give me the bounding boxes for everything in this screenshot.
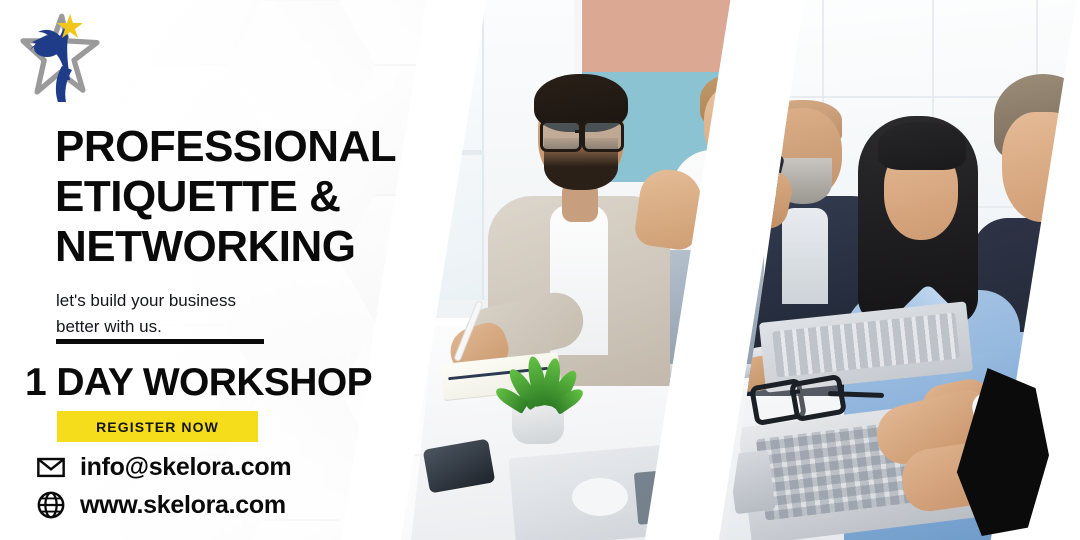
- workshop-title: 1 DAY WORKSHOP: [25, 360, 445, 406]
- register-now-button[interactable]: REGISTER NOW: [57, 411, 258, 442]
- tagline-line-1: let's build your business: [56, 288, 356, 314]
- website-text: www.skelora.com: [80, 491, 286, 520]
- banner-content: PROFESSIONAL ETIQUETTE & NETWORKING let'…: [0, 0, 560, 540]
- contact-website[interactable]: www.skelora.com: [36, 490, 286, 520]
- page-title: PROFESSIONAL ETIQUETTE & NETWORKING: [55, 122, 475, 272]
- headline-line-2: ETIQUETTE &: [55, 172, 475, 222]
- headline-line-1: PROFESSIONAL: [55, 122, 475, 172]
- contact-email[interactable]: info@skelora.com: [36, 452, 291, 482]
- globe-icon: [36, 490, 66, 520]
- headline-line-3: NETWORKING: [55, 222, 475, 272]
- tagline-line-2: better with us.: [56, 314, 356, 340]
- divider-rule: [56, 339, 264, 344]
- envelope-icon: [36, 452, 66, 482]
- graduate-star-logo: [14, 8, 118, 112]
- tagline: let's build your business better with us…: [56, 288, 356, 340]
- event-banner: PROFESSIONAL ETIQUETTE & NETWORKING let'…: [0, 0, 1080, 540]
- email-text: info@skelora.com: [80, 453, 291, 482]
